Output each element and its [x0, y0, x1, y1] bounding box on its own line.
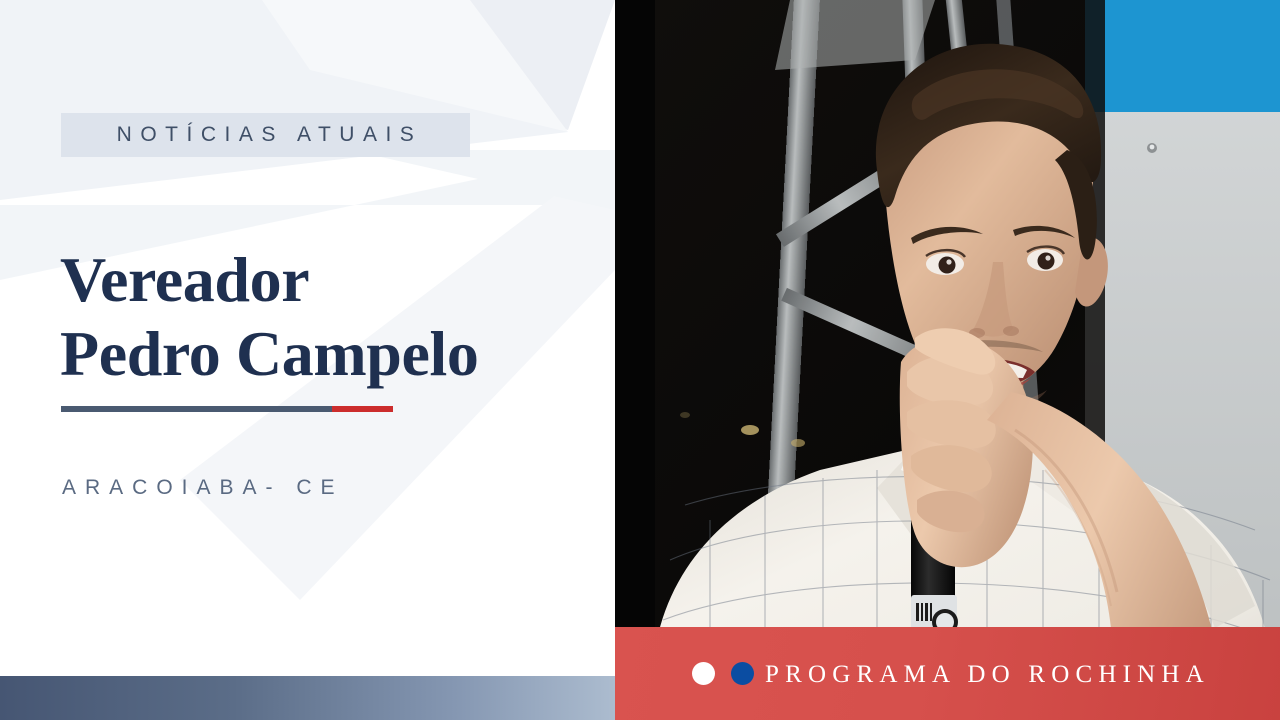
page-title: Vereador Pedro Campelo [60, 243, 615, 391]
bottom-gradient-bar [0, 676, 615, 720]
speaker-photo-illustration [615, 0, 1280, 720]
page-title-line-2: Pedro Campelo [60, 317, 615, 391]
eyebrow-label: NOTÍCIAS ATUAIS [109, 123, 423, 147]
eyebrow-badge: NOTÍCIAS ATUAIS [61, 113, 470, 157]
title-underline-rule [61, 406, 393, 412]
logo-dot-white-icon [692, 662, 715, 685]
background-wedge-light [0, 150, 615, 720]
left-content-panel: NOTÍCIAS ATUAIS Vereador Pedro Campelo A… [0, 0, 615, 720]
rule-segment-accent [332, 406, 393, 412]
page-title-line-1: Vereador [60, 243, 615, 317]
banner-logo-dots [692, 662, 754, 685]
program-name-label: PROGRAMA DO ROCHINHA [765, 663, 1210, 686]
speaker-photo [615, 0, 1280, 720]
rule-segment-navy [61, 406, 332, 412]
location-label: ARACOIABA- CE [62, 476, 344, 500]
background-triangle-light [0, 0, 615, 460]
slide-canvas: NOTÍCIAS ATUAIS Vereador Pedro Campelo A… [0, 0, 1280, 720]
program-banner: PROGRAMA DO ROCHINHA [615, 627, 1280, 720]
logo-dot-blue-icon [731, 662, 754, 685]
